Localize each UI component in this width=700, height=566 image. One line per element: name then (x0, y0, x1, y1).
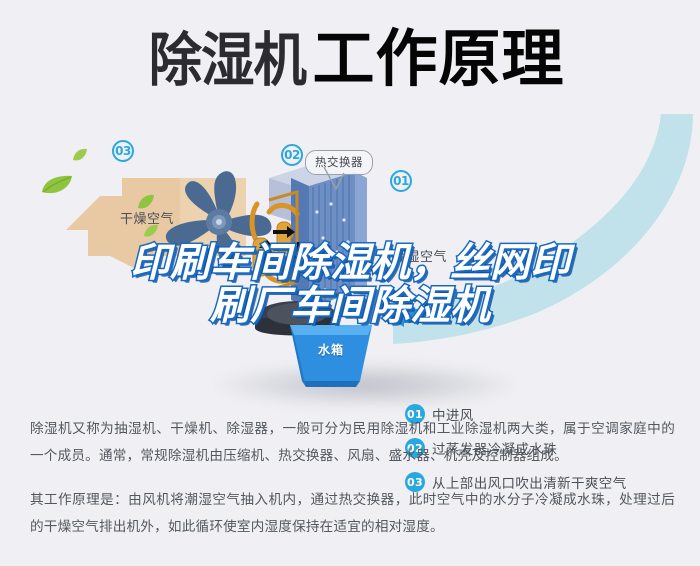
label-dry-air: 干燥空气 (120, 208, 174, 227)
badge-01-humid-air: 01 (390, 170, 412, 192)
page-title-part2: 工作原理 (313, 28, 565, 90)
water-tank-label: 水箱 (288, 341, 374, 358)
label-humid-air: 潮湿空气 (393, 246, 447, 265)
badge-03-dry-air: 03 (112, 140, 134, 162)
paragraph-1: 除湿机又称为抽湿机、干燥机、除湿器，一般可分为民用除湿机和工业除湿机两大类，属于… (30, 416, 675, 469)
page-title: 除湿机工作原理 (0, 28, 700, 90)
paragraph-2: 其工作原理是：由风机将潮湿空气抽入机内，通过热交换器，此时空气中的水分子冷凝成水… (30, 487, 675, 540)
infographic-page: 除湿机工作原理 (0, 0, 700, 566)
leaf-icon (40, 174, 74, 196)
page-title-part1: 除湿机 (149, 31, 306, 89)
callout-tail-icon (322, 167, 348, 197)
leaf-icon (72, 148, 88, 162)
body-copy: 除湿机又称为抽湿机、干燥机、除湿器，一般可分为民用除湿机和工业除湿机两大类，属于… (30, 416, 675, 540)
inflow-arrow-icon (386, 305, 442, 331)
badge-02-heat-exchanger: 02 (281, 144, 303, 166)
diagram-stage: 水箱 03 干燥空气 02 热交换器 01 潮湿空气 01 中进风 02 (0, 112, 700, 412)
